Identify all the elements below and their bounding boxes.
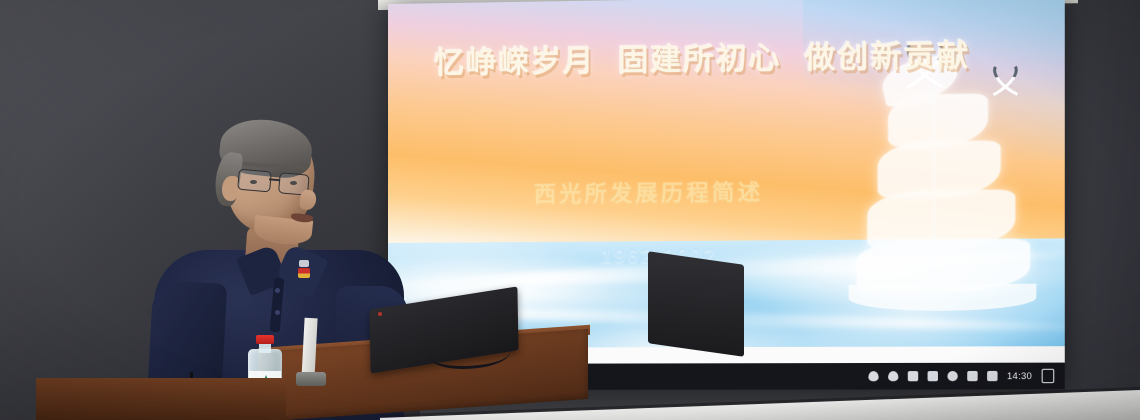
party-emblem-pin-icon [298, 260, 310, 278]
slide-title-part-3: 做创新贡献 [804, 39, 970, 75]
microphone-base [296, 372, 326, 386]
shield-icon[interactable] [868, 371, 878, 381]
shirt-button [275, 288, 280, 293]
globe-icon[interactable] [947, 371, 957, 381]
speaker-ear [222, 176, 239, 201]
slide-subtitle: 西光所发展历程简述 [534, 172, 1009, 209]
slide-title-part-2: 固建所初心 [618, 42, 782, 78]
notification-icon[interactable] [1042, 369, 1055, 383]
battery-icon[interactable] [908, 371, 918, 381]
shirt-button [275, 310, 280, 315]
system-tray[interactable]: 14:30 [868, 369, 1065, 384]
speaker-nose [299, 189, 318, 211]
volume-icon[interactable] [987, 371, 997, 381]
cloud-icon[interactable] [888, 371, 898, 381]
laptop-indicator-light [378, 312, 382, 316]
slide-title-part-1: 忆峥嵘岁月 [434, 45, 595, 80]
podium-front-panel [36, 378, 286, 420]
second-laptop [648, 251, 744, 356]
taskbar-clock[interactable]: 14:30 [1007, 371, 1032, 381]
input-method-icon[interactable] [967, 371, 977, 381]
presentation-photo-scene: 忆峥嵘岁月固建所初心做创新贡献 西光所发展历程简述 1962-2002 14:3… [0, 0, 1140, 420]
sky-cool-tint [803, 0, 1064, 162]
bottle-cap [256, 335, 274, 344]
network-icon[interactable] [928, 371, 938, 381]
slide-title: 忆峥嵘岁月固建所初心做创新贡献 [434, 29, 1016, 82]
